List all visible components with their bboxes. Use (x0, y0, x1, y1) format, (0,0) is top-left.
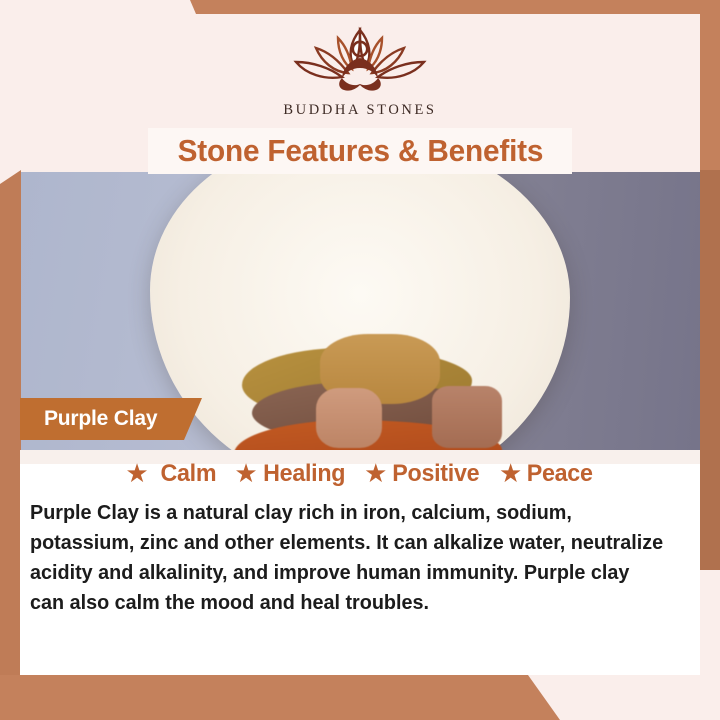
clay-powder-sample (316, 388, 382, 448)
frame-bottom-bar (0, 675, 560, 720)
benefits-list: ★ Calm ★ Healing ★ Positive ★ Peace (20, 460, 700, 488)
product-name-label: Purple Clay (44, 407, 157, 431)
benefit-item-calm: ★ Calm (125, 460, 217, 488)
star-icon: ★ (234, 460, 257, 486)
benefit-label: Healing (263, 460, 345, 488)
benefit-label: Positive (393, 460, 480, 488)
product-description: Purple Clay is a natural clay rich in ir… (30, 498, 668, 618)
title-band: Stone Features & Benefits (148, 128, 572, 174)
clay-powder-sample (432, 386, 502, 448)
benefit-label: Calm (160, 460, 216, 488)
frame-right-lower-bar (700, 170, 720, 570)
lotus-meditation-icon (280, 22, 440, 98)
star-icon: ★ (364, 460, 387, 486)
benefit-item-positive: ★ Positive (364, 460, 482, 488)
page-title: Stone Features & Benefits (177, 133, 543, 169)
brand-logo: BUDDHA STONES (0, 22, 720, 119)
benefit-label: Peace (527, 460, 593, 488)
star-icon: ★ (125, 460, 148, 486)
benefit-item-healing: ★ Healing (234, 460, 347, 488)
star-icon: ★ (499, 460, 522, 486)
product-name-tag: Purple Clay (20, 398, 202, 440)
brand-name: BUDDHA STONES (0, 102, 720, 119)
frame-left-bar (0, 170, 21, 675)
infographic-page: BUDDHA STONES Stone Features & Benefits … (0, 0, 720, 720)
benefit-item-peace: ★ Peace (499, 460, 595, 488)
